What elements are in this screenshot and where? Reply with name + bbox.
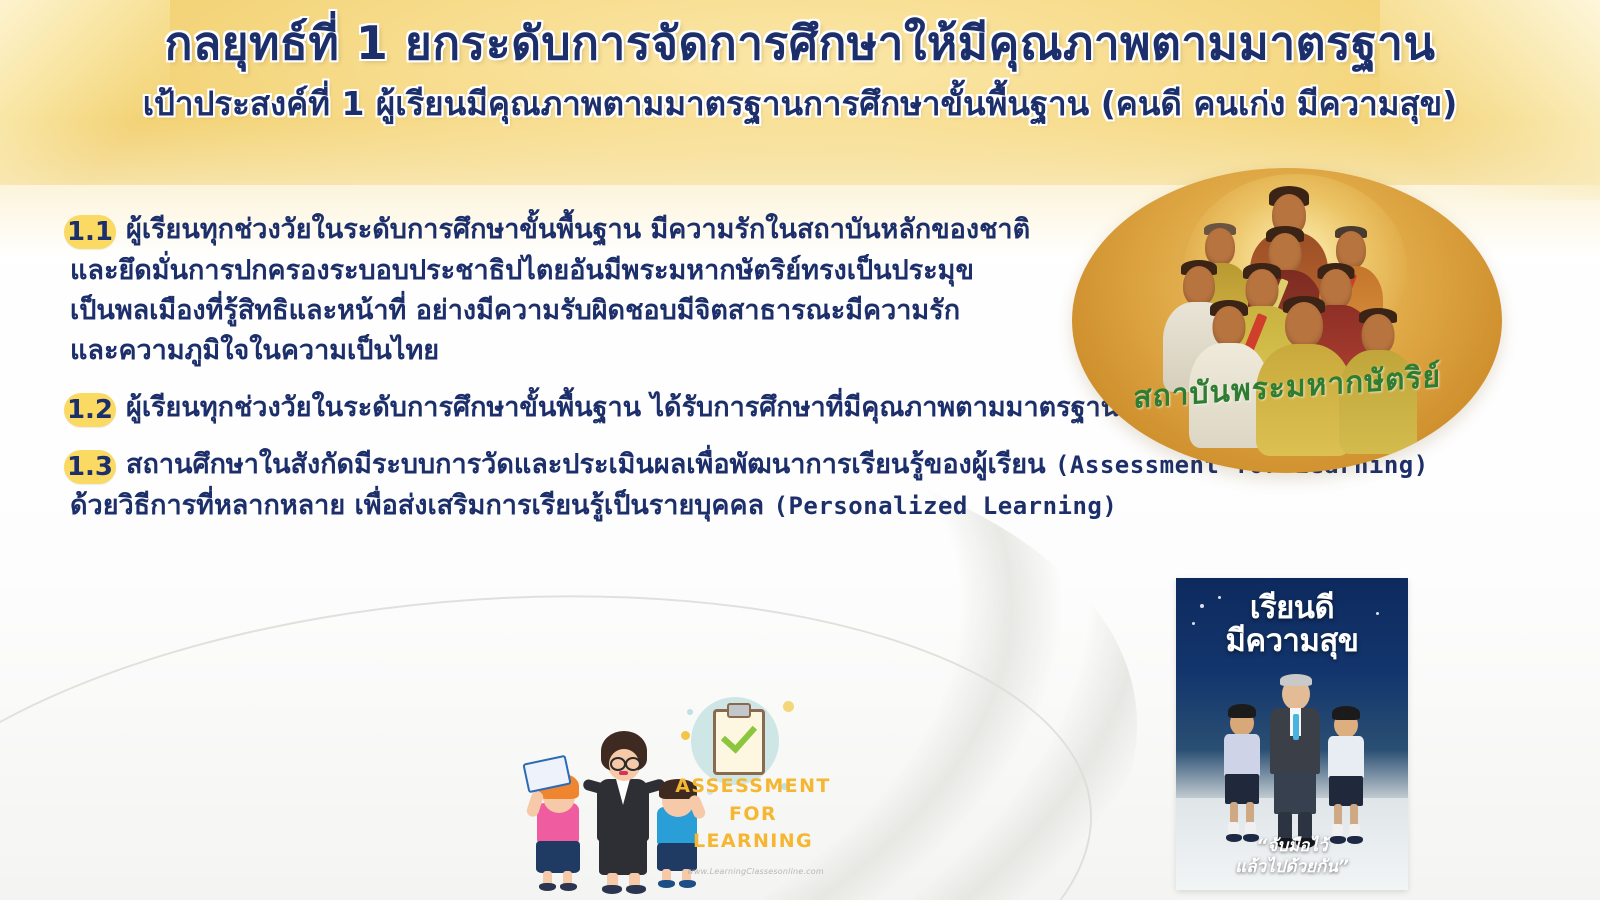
item-text-thai: สถานศึกษาในสังกัดมีระบบการวัดและประเมินผ… [126, 449, 1055, 480]
poster-quote-line-2: แล้วไปด้วยกัน” [1176, 857, 1408, 878]
king-figure [1340, 308, 1416, 448]
monarchy-oval-image: สถาบันพระมหากษัตริย์ [1072, 168, 1502, 473]
item-text-english: (Personalized Learning) [774, 492, 1118, 520]
item-text-line: ด้วยวิธีการที่หลากหลาย เพื่อส่งเสริมการเ… [70, 488, 1464, 524]
item-text-line: ผู้เรียนทุกช่วงวัยในระดับการศึกษาขั้นพื้… [126, 212, 1030, 248]
poster-title: เรียนดี มีความสุข [1176, 592, 1408, 658]
afl-watermark-url: www.LearningClassesonline.com [663, 867, 848, 876]
kings-figures [1072, 168, 1502, 473]
assessment-for-learning-graphic: ASSESSMENT FOR LEARNING www.LearningClas… [495, 695, 835, 895]
decor-dot [681, 731, 690, 740]
decor-dot [687, 709, 693, 715]
glasses-icon [610, 757, 626, 771]
poster-adult-center [1264, 674, 1326, 852]
item-text-thai: ด้วยวิธีการที่หลากหลาย เพื่อส่งเสริมการเ… [70, 490, 774, 521]
slide-subtitle: เป้าประสงค์ที่ 1 ผู้เรียนมีคุณภาพตามมาตร… [0, 84, 1600, 124]
poster-student-right [1322, 706, 1370, 846]
poster-quote: “จับมือไว้ แล้วไปด้วยกัน” [1176, 836, 1408, 879]
poster-quote-line-1: “จับมือไว้ [1176, 836, 1408, 857]
learning-happiness-poster: เรียนดี มีความสุข “จับมือไว้ แล้วไปด้วยก… [1176, 578, 1408, 890]
item-number-badge: 1.3 [64, 450, 116, 484]
item-number-badge: 1.1 [64, 215, 116, 249]
glasses-icon [625, 757, 641, 771]
afl-label: ASSESSMENT FOR LEARNING [663, 773, 843, 856]
slide-canvas: กลยุทธ์ที่ 1 ยกระดับการจัดการศึกษาให้มีค… [0, 0, 1600, 900]
king-figure [1258, 296, 1350, 446]
afl-line-2: FOR [663, 801, 843, 829]
afl-line-1: ASSESSMENT [663, 773, 843, 801]
afl-line-3: LEARNING [663, 828, 843, 856]
header-block: กลยุทธ์ที่ 1 ยกระดับการจัดการศึกษาให้มีค… [0, 16, 1600, 124]
poster-student-left [1218, 704, 1266, 846]
item-text-line: ผู้เรียนทุกช่วงวัยในระดับการศึกษาขั้นพื้… [126, 390, 1119, 426]
slide-title: กลยุทธ์ที่ 1 ยกระดับการจัดการศึกษาให้มีค… [0, 16, 1600, 70]
clipboard-clasp-icon [727, 703, 751, 718]
poster-title-line-2: มีความสุข [1176, 625, 1408, 658]
poster-title-line-1: เรียนดี [1176, 592, 1408, 625]
decor-dot [783, 701, 794, 712]
item-number-badge: 1.2 [64, 393, 116, 427]
